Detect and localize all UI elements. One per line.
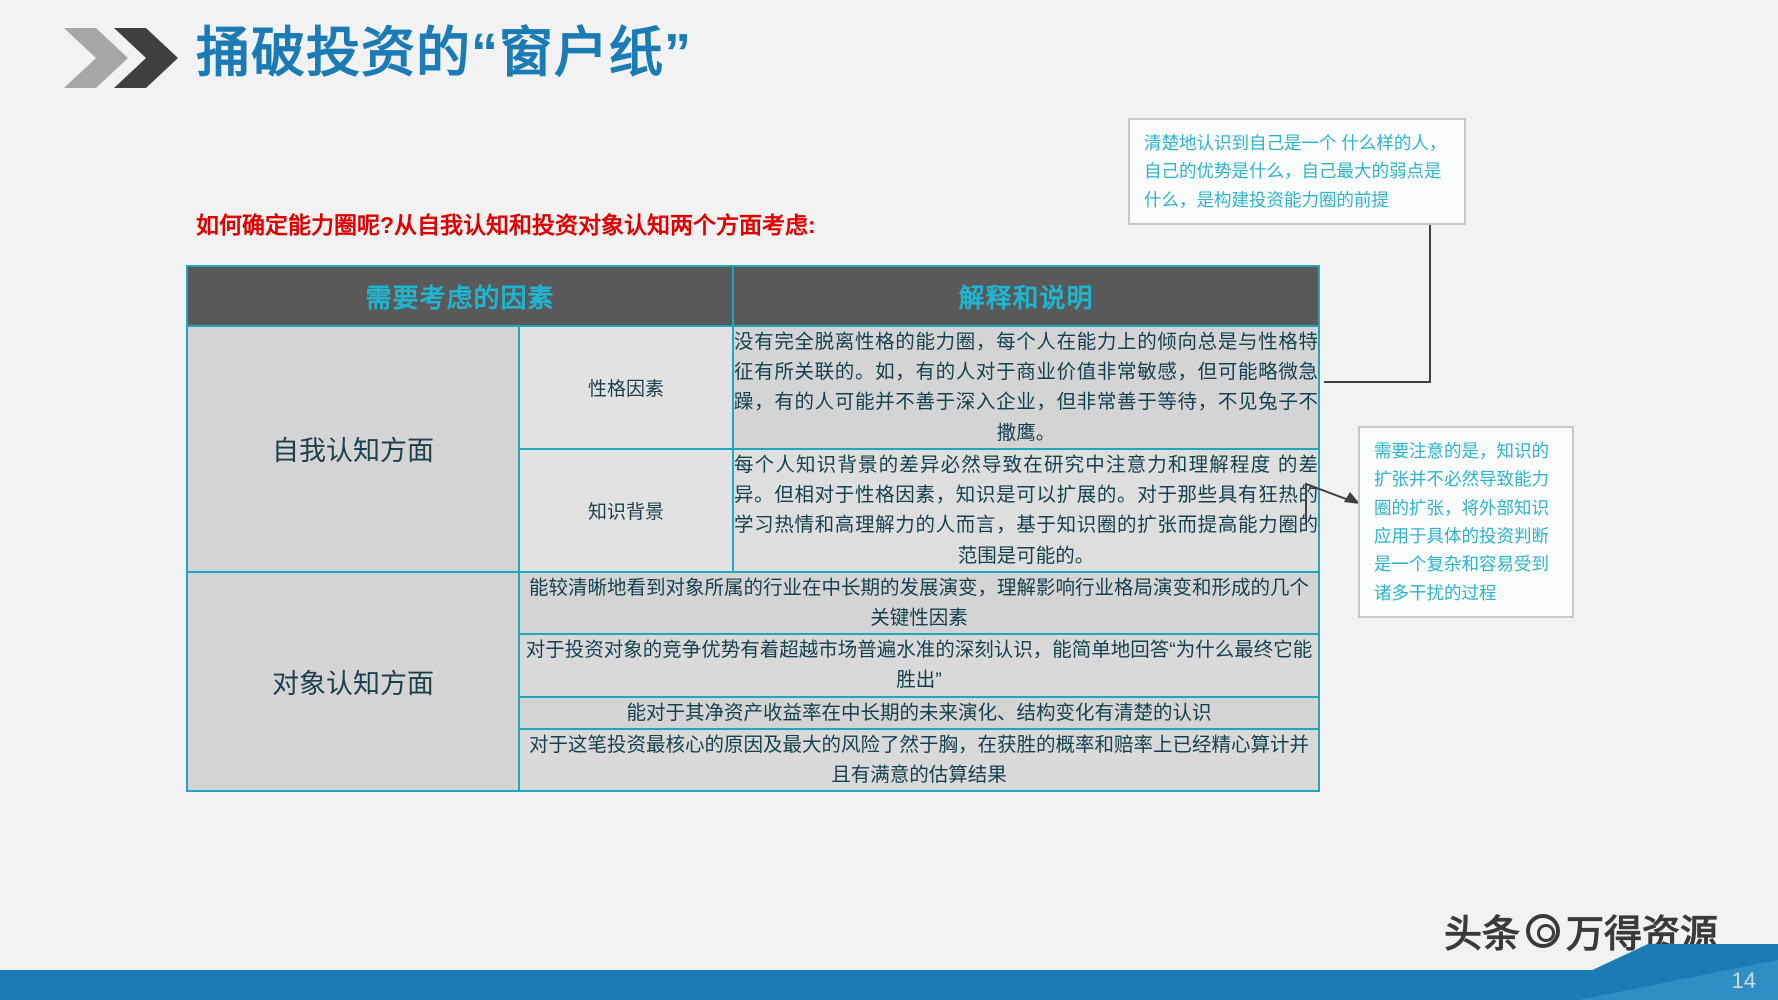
table-header-row: 需要考虑的因素 解释和说明 xyxy=(187,266,1319,326)
desc-industry-evolution: 能较清晰地看到对象所属的行业在中长期的发展演变，理解影响行业格局演变和形成的几个… xyxy=(519,572,1319,634)
table-row: 对象认知方面 能较清晰地看到对象所属的行业在中长期的发展演变，理解影响行业格局演… xyxy=(187,572,1319,634)
slide-canvas: 捅破投资的“窗户纸” 如何确定能力圈呢?从自我认知和投资对象认知两个方面考虑: … xyxy=(0,0,1778,1000)
table-header-factors: 需要考虑的因素 xyxy=(187,266,733,326)
desc-personality: 没有完全脱离性格的能力圈，每个人在能力上的倾向总是与性格特征有所关联的。如，有的… xyxy=(733,326,1319,449)
footer-swoosh-decoration xyxy=(1348,914,1778,1000)
page-title: 捅破投资的“窗户纸” xyxy=(196,22,692,84)
capability-circle-table: 需要考虑的因素 解释和说明 自我认知方面 性格因素 没有完全脱离性格的能力圈，每… xyxy=(186,265,1320,792)
desc-knowledge: 每个人知识背景的差异必然导致在研究中注意力和理解程度 的差异。但相对于性格因素，… xyxy=(733,449,1319,572)
group-label-object-cognition: 对象认知方面 xyxy=(187,572,519,792)
subtitle-question: 如何确定能力圈呢?从自我认知和投资对象认知两个方面考虑: xyxy=(196,206,816,240)
group-label-self-cognition: 自我认知方面 xyxy=(187,326,519,572)
desc-risk-odds: 对于这笔投资最核心的原因及最大的风险了然于胸，在获胜的概率和赔率上已经精心算计并… xyxy=(519,729,1319,791)
sub-label-personality: 性格因素 xyxy=(519,326,733,449)
table-row: 自我认知方面 性格因素 没有完全脱离性格的能力圈，每个人在能力上的倾向总是与性格… xyxy=(187,326,1319,449)
desc-competitive-advantage: 对于投资对象的竞争优势有着超越市场普遍水准的深刻认识，能简单地回答“为什么最终它… xyxy=(519,634,1319,696)
page-number: 14 xyxy=(1732,968,1756,994)
chevron-double-right-icon xyxy=(62,24,182,92)
sub-label-knowledge: 知识背景 xyxy=(519,449,733,572)
callout-knowledge-expansion: 需要注意的是，知识的扩张并不必然导致能力圈的扩张，将外部知识应用于具体的投资判断… xyxy=(1358,426,1574,618)
callout-self-awareness: 清楚地认识到自己是一个 什么样的人，自己的优势是什么，自己最大的弱点是什么，是构… xyxy=(1128,118,1466,225)
table-header-explanation: 解释和说明 xyxy=(733,266,1319,326)
desc-roe-evolution: 能对于其净资产收益率在中长期的未来演化、结构变化有清楚的认识 xyxy=(519,697,1319,729)
